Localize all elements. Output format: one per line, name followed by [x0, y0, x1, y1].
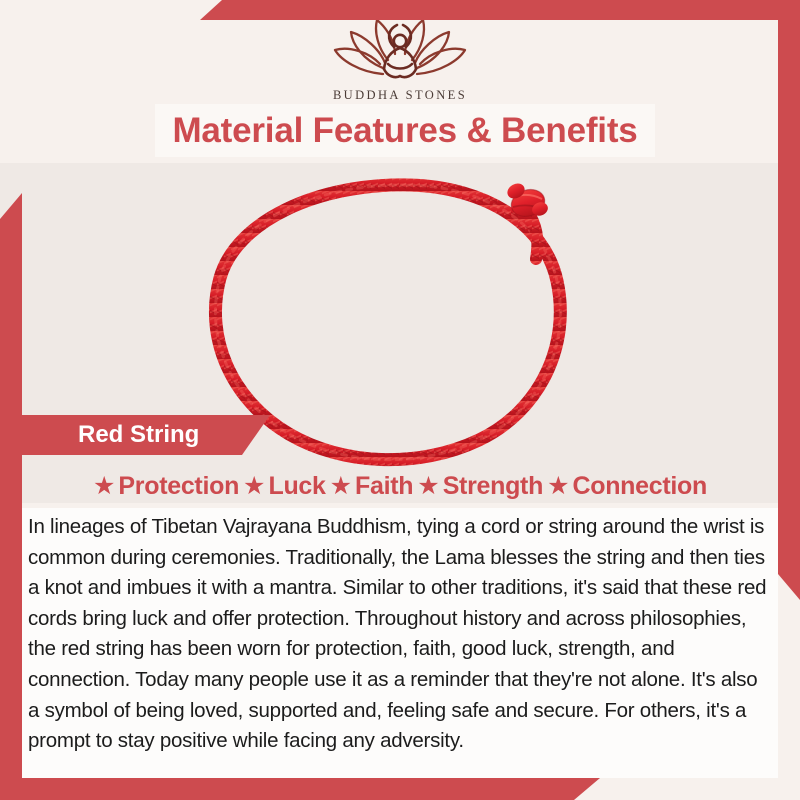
title-plaque: Material Features & Benefits	[155, 104, 655, 157]
page-title: Material Features & Benefits	[172, 111, 637, 151]
frame-band-right	[778, 0, 800, 600]
brand-logo: BUDDHA STONES	[0, 14, 800, 103]
benefit-label: Connection	[572, 472, 707, 501]
benefit-label: Strength	[443, 472, 543, 501]
benefits-row: ★ Protection ★ Luck ★ Faith ★ Strength ★…	[0, 464, 800, 508]
benefit-strength: ★ Strength	[417, 472, 543, 501]
star-icon: ★	[243, 474, 265, 499]
star-icon: ★	[93, 474, 115, 499]
infographic-card: BUDDHA STONES Material Features & Benefi…	[0, 0, 800, 800]
material-name: Red String	[78, 421, 199, 449]
lotus-meditation-figure-icon	[325, 14, 475, 86]
star-icon: ★	[417, 474, 439, 499]
benefit-protection: ★ Protection	[93, 472, 239, 501]
description-text: In lineages of Tibetan Vajrayana Buddhis…	[28, 512, 772, 757]
brand-name: BUDDHA STONES	[0, 88, 800, 103]
description-panel: In lineages of Tibetan Vajrayana Buddhis…	[22, 508, 778, 778]
star-icon: ★	[547, 474, 569, 499]
frame-band-bottom	[0, 778, 600, 800]
benefit-luck: ★ Luck	[243, 472, 326, 501]
benefit-label: Luck	[268, 472, 325, 501]
material-ribbon: Red String	[22, 415, 270, 455]
benefit-label: Faith	[355, 472, 413, 501]
frame-band-top	[200, 0, 800, 20]
frame-band-left	[0, 193, 22, 800]
benefit-faith: ★ Faith	[330, 472, 414, 501]
benefit-label: Protection	[118, 472, 239, 501]
benefit-connection: ★ Connection	[547, 472, 707, 501]
star-icon: ★	[330, 474, 352, 499]
